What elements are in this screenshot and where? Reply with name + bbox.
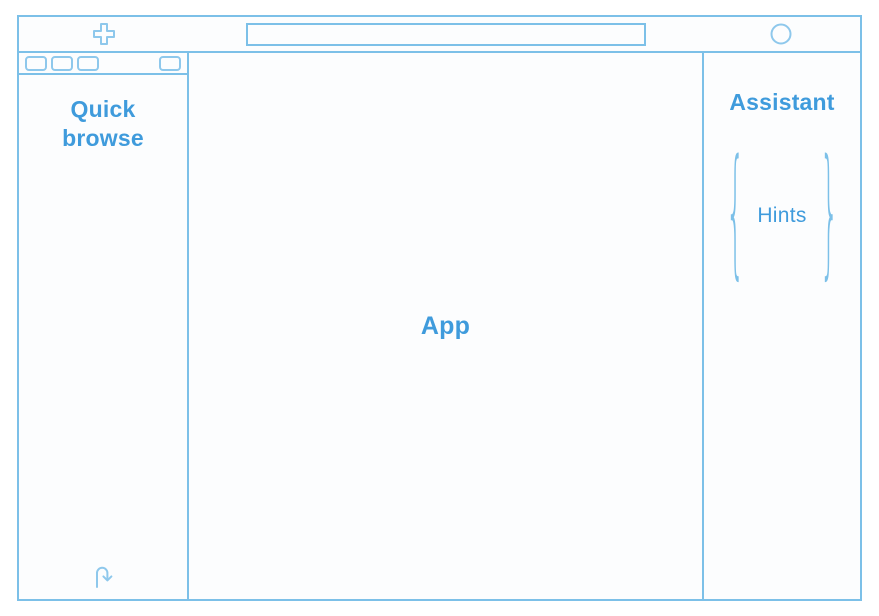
top-bar — [19, 17, 860, 53]
assistant-pane: Assistant { Hints } — [704, 53, 860, 599]
hints-label: Hints — [747, 204, 816, 228]
open-brace-icon: { — [726, 146, 745, 286]
plus-icon[interactable] — [91, 21, 117, 47]
main-content-pane: App — [189, 53, 704, 599]
panes-container: Quick browse App Assistant { — [19, 53, 860, 599]
sidebar-toolbar-button-group — [25, 56, 99, 71]
top-bar-right-section — [702, 17, 860, 51]
wireframe-window: Quick browse App Assistant { — [17, 15, 862, 601]
toolbar-button-3[interactable] — [77, 56, 99, 71]
sidebar-body: Quick browse — [19, 75, 187, 599]
toolbar-button-4[interactable] — [159, 56, 181, 71]
top-bar-center-section — [189, 17, 702, 51]
assistant-title: Assistant — [729, 53, 834, 116]
u-turn-arrow-icon[interactable] — [88, 561, 118, 591]
sidebar: Quick browse — [19, 53, 189, 599]
sidebar-toolbar — [19, 53, 187, 75]
hints-block: { Hints } — [704, 203, 860, 229]
main-title: App — [421, 312, 470, 341]
circle-avatar-icon[interactable] — [769, 22, 793, 46]
close-brace-icon: } — [819, 146, 838, 286]
toolbar-button-2[interactable] — [51, 56, 73, 71]
sidebar-title: Quick browse — [19, 75, 187, 153]
top-bar-left-section — [19, 17, 189, 51]
sidebar-footer — [19, 561, 187, 591]
toolbar-button-1[interactable] — [25, 56, 47, 71]
address-input[interactable] — [246, 23, 646, 46]
